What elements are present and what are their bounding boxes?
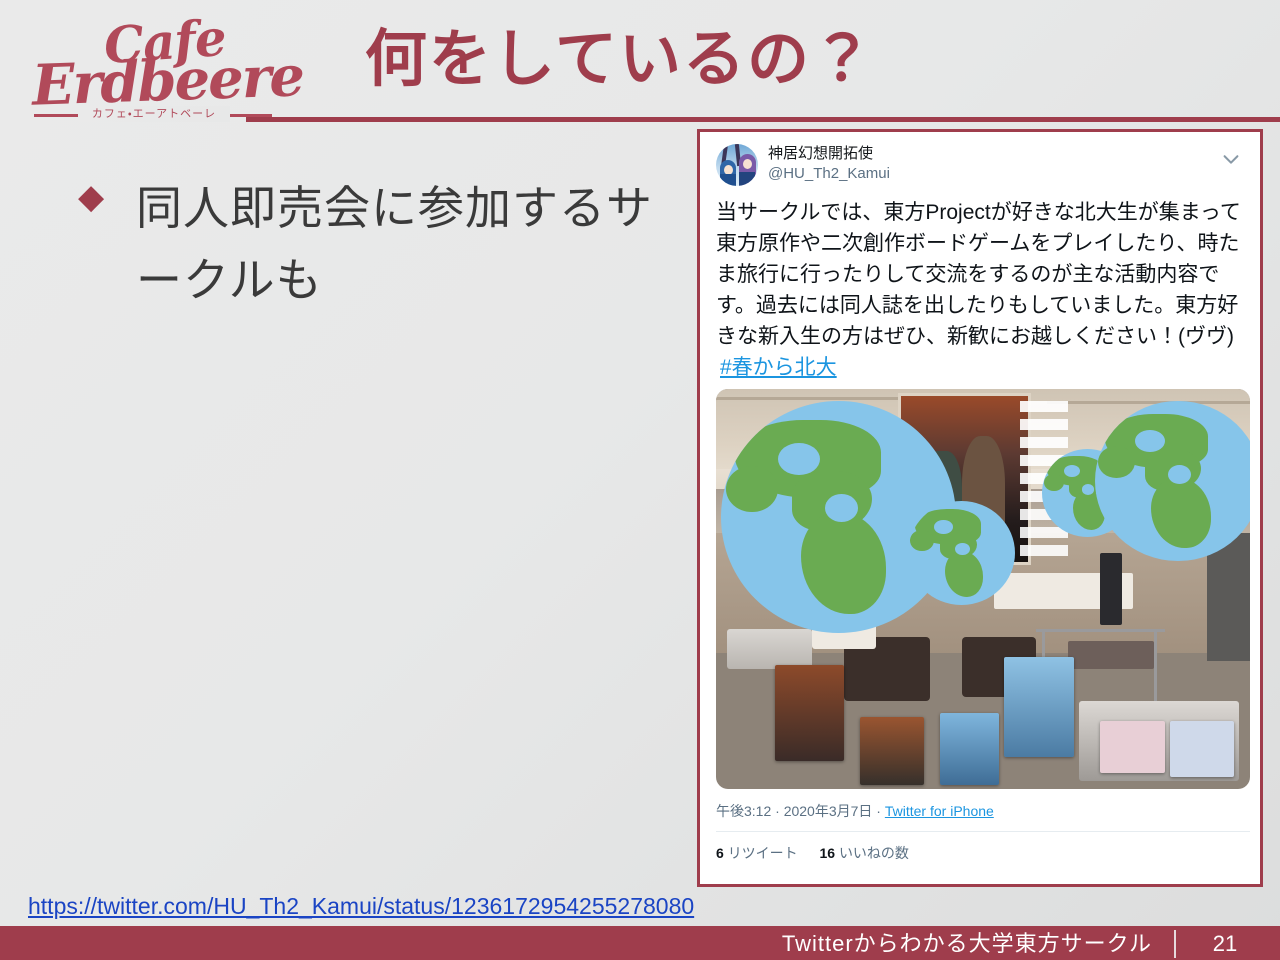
globe-emoji-overlay: [1095, 401, 1250, 561]
embedded-tweet-card[interactable]: 神居幻想開拓使 @HU_Th2_Kamui 当サークルでは、東方Projectが…: [697, 129, 1263, 887]
tweet-body-text: 当サークルでは、東方Projectが好きな北大生が集まって東方原作や二次創作ボー…: [716, 197, 1244, 352]
bullet-list: ◆ 同人即売会に参加するサークルも: [78, 172, 678, 316]
source-url-link[interactable]: https://twitter.com/HU_Th2_Kamui/status/…: [28, 893, 694, 920]
page-number: 21: [1198, 931, 1252, 957]
page-title: 何をしているの？: [300, 18, 940, 102]
bullet-item-label: 同人即売会に参加するサークルも: [136, 172, 678, 316]
diamond-bullet-icon: ◆: [78, 180, 104, 214]
tweet-divider: [716, 831, 1250, 832]
tweet-header: 神居幻想開拓使 @HU_Th2_Kamui: [716, 144, 1244, 186]
tweet-display-name[interactable]: 神居幻想開拓使: [768, 144, 1220, 164]
tweet-handle[interactable]: @HU_Th2_Kamui: [768, 164, 1220, 184]
header-divider-line: [246, 117, 1280, 122]
footer-separator: [1174, 930, 1176, 958]
avatar[interactable]: [716, 144, 758, 186]
tweet-hashtag-link[interactable]: #春から北大: [720, 352, 1244, 383]
chevron-down-icon[interactable]: [1220, 144, 1244, 175]
like-count[interactable]: 16: [819, 845, 835, 861]
tweet-timestamp-row: 午後3:12 · 2020年3月7日 · Twitter for iPhone: [716, 801, 1244, 821]
retweet-label[interactable]: リツイート: [728, 845, 798, 861]
logo-kana-subtitle: カフェ・エーアトベーレ: [78, 106, 230, 122]
cafe-erdbeere-logo: Cafe Erdbeere カフェ・エーアトベーレ: [28, 18, 278, 124]
tweet-source-link[interactable]: Twitter for iPhone: [885, 803, 994, 819]
tweet-stats-row: 6 リツイート 16 いいねの数: [716, 843, 1244, 863]
slide-header: Cafe Erdbeere カフェ・エーアトベーレ 何をしているの？: [0, 0, 1280, 126]
footer-section-title: Twitterからわかる大学東方サークル: [782, 931, 1152, 957]
like-label[interactable]: いいねの数: [839, 845, 909, 861]
tweet-timestamp: 午後3:12 · 2020年3月7日 ·: [716, 803, 885, 819]
retweet-count[interactable]: 6: [716, 845, 724, 861]
globe-emoji-overlay: [908, 501, 1015, 605]
tweet-photo[interactable]: [716, 389, 1250, 789]
